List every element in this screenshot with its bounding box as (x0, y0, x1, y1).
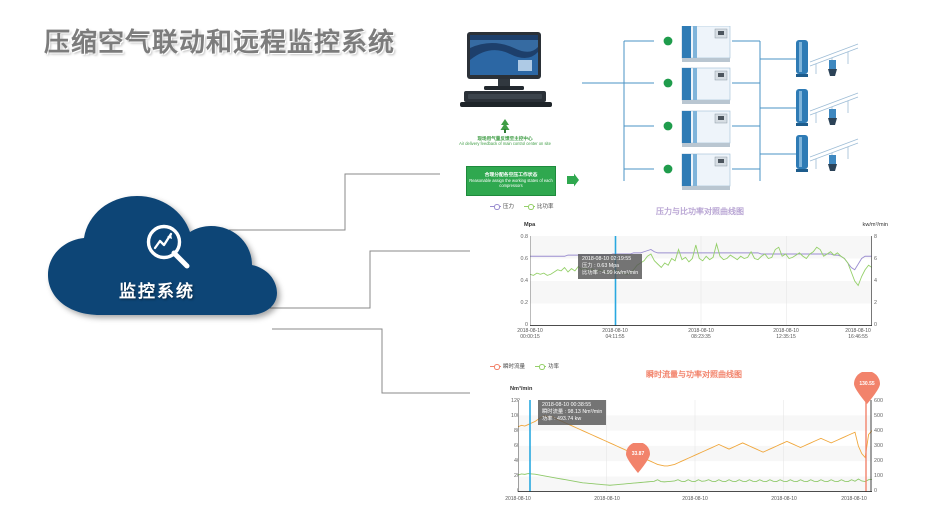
chart1-ytick-right: 6 (874, 256, 888, 262)
chart-pressure-vs-specific-power: 压力 比功率 压力与比功率对照曲线图 Mpa kw/m³/min 0.8 0.6… (470, 200, 890, 340)
chart2-tooltip: 2018-08-10 00:38:55 瞬时流量 : 98.13 Nm³/min… (538, 400, 606, 425)
chart2-xtick: 2018-08-10 (760, 496, 808, 502)
chart2-ytick-left: 120 (494, 398, 520, 404)
legend-marker-icon (490, 204, 501, 209)
chart2-ytick-right: 300 (874, 443, 892, 449)
chart1-ytick-left: 0.4 (506, 278, 528, 284)
chart2-ytick-right: 500 (874, 413, 892, 419)
chart-magnifier-icon (142, 221, 194, 273)
chart1-ytick-right: 8 (874, 234, 888, 240)
legend-item-flow[interactable]: 瞬时流量 (490, 362, 525, 370)
chart1-tooltip: 2018-08-10 02:19:55 压力 : 0.63 Mpa 比功率 : … (578, 254, 642, 279)
legend-item-specific-power[interactable]: 比功率 (524, 202, 554, 210)
chart1-title: 压力与比功率对照曲线图 (656, 206, 744, 217)
chart2-legend: 瞬时流量 功率 (490, 362, 559, 370)
chart2-ytick-left: 100 (494, 413, 520, 419)
chart2-ytick-left: 0 (494, 488, 520, 494)
chart2-marker-low[interactable]: 33.87 (625, 443, 651, 473)
cloud-label: 监控系统 (38, 277, 276, 302)
chart2-xtick: 2018-08-10 (671, 496, 719, 502)
chart2-ytick-right: 100 (874, 473, 892, 479)
chart2-xtick: 2018-08-10 (583, 496, 631, 502)
chart1-xtick: 2018-08-1004:11:55 (591, 328, 639, 341)
chart2-ylabel-left: Nm³/min (510, 386, 532, 392)
chart2-ytick-left: 40 (494, 458, 520, 464)
assign-status-box: 合理分配各空压工作状态 Reasonable assign the workin… (466, 166, 556, 196)
chart1-legend: 压力 比功率 (490, 202, 554, 210)
chart2-ytick-left: 60 (494, 443, 520, 449)
chart1-xtick: 2018-08-1008:23:35 (677, 328, 725, 341)
chart-flow-vs-power: 瞬时流量 功率 瞬时流量与功率对照曲线图 Nm³/min 120 100 80 … (470, 360, 890, 525)
compressed-air-system-diagram: 现场用气量反馈至主控中心 Air delivery feedback of ma… (432, 18, 932, 196)
chart2-marker-low-value: 33.87 (625, 451, 651, 457)
legend-marker-icon (524, 204, 535, 209)
green-arrow-icon (566, 173, 580, 187)
chart1-xtick: 2018-08-1000:00:15 (506, 328, 554, 341)
chart1-ytick-left: 0.2 (506, 300, 528, 306)
chart2-xtick: 2018-08-10 (830, 496, 878, 502)
legend-marker-icon (490, 364, 501, 369)
chart2-ytick-left: 20 (494, 473, 520, 479)
page-title: 压缩空气联动和远程监控系统 (44, 22, 395, 59)
slide-canvas: 压缩空气联动和远程监控系统 监控系统 (0, 0, 945, 529)
compressor-network (582, 26, 932, 196)
chart2-ytick-right: 200 (874, 458, 892, 464)
chart1-ylabel-right: kw/m³/min (863, 222, 888, 228)
chart1-xtick: 2018-08-1012:35:15 (762, 328, 810, 341)
legend-item-power[interactable]: 功率 (535, 362, 559, 370)
chart1-tooltip-line: 比功率 : 4.99 kw/m³/min (582, 270, 638, 277)
monitoring-cloud[interactable]: 监控系统 (38, 193, 288, 328)
feedback-caption: 现场用气量反馈至主控中心 Air delivery feedback of ma… (446, 136, 564, 147)
chart1-xtick: 2018-08-1016:46:55 (834, 328, 882, 341)
chart1-ytick-right: 2 (874, 300, 888, 306)
chart2-ytick-right: 0 (874, 488, 892, 494)
chart2-title: 瞬时流量与功率对照曲线图 (646, 369, 742, 380)
tree-icon (498, 119, 512, 133)
legend-item-pressure[interactable]: 压力 (490, 202, 514, 210)
chart2-ytick-right: 400 (874, 428, 892, 434)
chart1-ytick-left: 0.6 (506, 256, 528, 262)
chart2-marker-high[interactable]: 130.55 (853, 372, 881, 404)
chart1-ytick-left: 0.8 (506, 234, 528, 240)
chart2-xtick: 2018-08-10 (494, 496, 542, 502)
chart2-ytick-left: 80 (494, 428, 520, 434)
legend-marker-icon (535, 364, 546, 369)
chart2-tooltip-line: 功率 : 493.74 kw (542, 416, 602, 423)
compressor-node-dots (664, 37, 673, 174)
assign-status-en: Reasonable assign the working states of … (467, 179, 555, 189)
desktop-monitor-icon (458, 30, 556, 112)
map-pin-icon (853, 372, 881, 404)
chart2-marker-high-value: 130.55 (853, 381, 881, 387)
chart1-plot-area (530, 236, 872, 326)
chart1-ylabel-left: Mpa (524, 222, 535, 228)
feedback-caption-en: Air delivery feedback of main control ce… (446, 142, 564, 147)
chart1-ytick-right: 4 (874, 278, 888, 284)
map-pin-icon (625, 443, 651, 473)
